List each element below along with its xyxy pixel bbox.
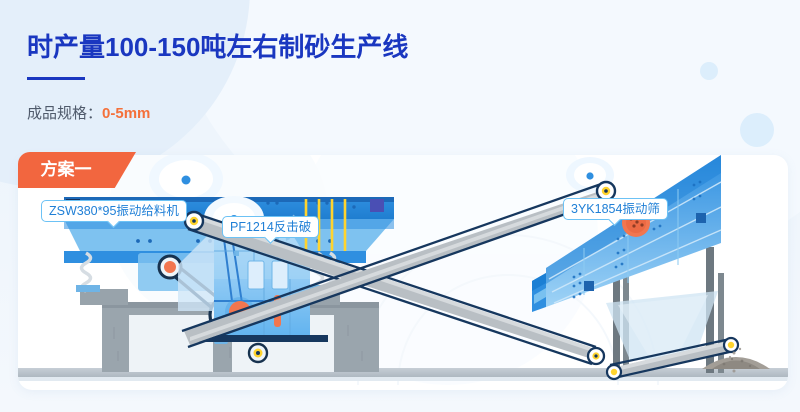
callout-impact-crusher[interactable]: PF1214反击破	[222, 216, 319, 238]
production-line-illustration	[18, 155, 788, 390]
product-spec-label: 成品规格：	[27, 105, 102, 122]
callout-vibrating-feeder[interactable]: ZSW380*95振动给料机	[41, 200, 187, 222]
page-root: 时产量100-150吨左右制砂生产线 成品规格：0-5mm	[0, 0, 800, 412]
callout-vibrating-screen[interactable]: 3YK1854振动筛	[563, 198, 668, 220]
page-title: 时产量100-150吨左右制砂生产线	[27, 27, 408, 64]
page-header: 时产量100-150吨左右制砂生产线 成品规格：0-5mm	[0, 0, 800, 150]
scheme-tab-label: 方案一	[18, 152, 114, 188]
scheme-card: TUO CHI	[18, 155, 788, 390]
title-underline-rule	[27, 77, 85, 80]
ground-shadow	[18, 377, 788, 381]
product-spec-line: 成品规格：0-5mm	[27, 102, 150, 123]
product-spec-value: 0-5mm	[102, 105, 150, 122]
